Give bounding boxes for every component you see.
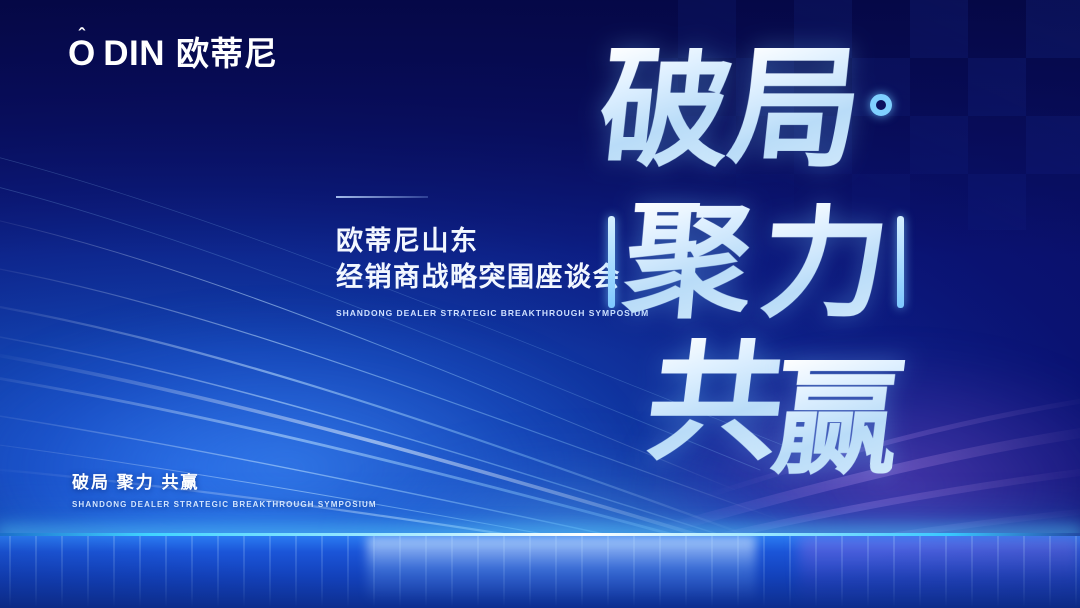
floor-reflection-lines: [0, 536, 1080, 608]
strapline-chinese: 破局 聚力 共赢: [72, 468, 377, 493]
strapline-block: 破局 聚力 共赢 SHANDONG DEALER STRATEGIC BREAK…: [72, 468, 377, 509]
logo-latin-text: DIN: [103, 36, 165, 71]
logo-chinese-text: 欧蒂尼: [176, 37, 278, 70]
hero-char-li: 力: [756, 203, 892, 321]
title-divider-rule: [336, 196, 428, 198]
logo-macron-icon: ˆ: [78, 27, 83, 46]
hero-row-pojü: 破 局: [600, 48, 892, 169]
hero-calligraphy: 破 局 聚 力 共 赢: [590, 48, 1010, 468]
hero-row-juli: 聚 力: [608, 203, 904, 321]
strapline-english: SHANDONG DEALER STRATEGIC BREAKTHROUGH S…: [72, 500, 377, 509]
hero-char-ying: 赢: [767, 360, 905, 478]
logo-o-with-macron: ˆ O: [68, 36, 94, 71]
vertical-bar-left-icon: [608, 216, 615, 308]
event-backdrop-poster: ˆ O DIN 欧蒂尼 欧蒂尼山东 经销商战略突围座谈会 SHANDONG DE…: [0, 0, 1080, 608]
vertical-bar-right-icon: [897, 216, 904, 308]
hero-char-ju2: 聚: [620, 203, 756, 321]
hero-char-gong: 共: [640, 338, 787, 463]
hero-char-po: 破: [594, 48, 737, 169]
hero-row-gongying: 共 赢: [648, 338, 904, 463]
stage-floor: [0, 536, 1080, 608]
degree-ring-icon: [870, 94, 892, 116]
hero-char-ju: 局: [724, 48, 867, 169]
brand-logo[interactable]: ˆ O DIN 欧蒂尼: [68, 36, 278, 71]
